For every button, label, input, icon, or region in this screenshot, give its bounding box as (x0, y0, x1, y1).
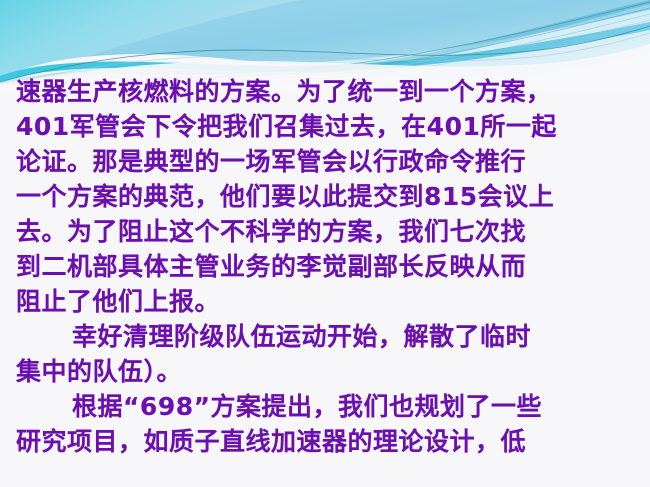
text-line: 幸好清理阶级队伍运动开始，解散了临时 (0, 319, 650, 354)
text-line: 集中的队伍）。 (0, 354, 650, 389)
text-line: 研究项目，如质子直线加速器的理论设计，低 (0, 424, 650, 459)
text-line: 速器生产核燃料的方案。为了统一到一个方案， (0, 74, 650, 109)
slide-body-text: 速器生产核燃料的方案。为了统一到一个方案， 401军管会下令把我们召集过去，在4… (0, 74, 650, 459)
text-line: 论证。那是典型的一场军管会以行政命令推行 (0, 144, 650, 179)
text-line: 根据“698”方案提出，我们也规划了一些 (0, 389, 650, 424)
text-line: 401军管会下令把我们召集过去，在401所一起 (0, 109, 650, 144)
text-line: 到二机部具体主管业务的李觉副部长反映从而 (0, 249, 650, 284)
text-line: 阻止了他们上报。 (0, 284, 650, 319)
text-line: 一个方案的典范，他们要以此提交到815会议上 (0, 179, 650, 214)
slide-canvas: 速器生产核燃料的方案。为了统一到一个方案， 401军管会下令把我们召集过去，在4… (0, 0, 650, 487)
text-line: 去。为了阻止这个不科学的方案，我们七次找 (0, 214, 650, 249)
